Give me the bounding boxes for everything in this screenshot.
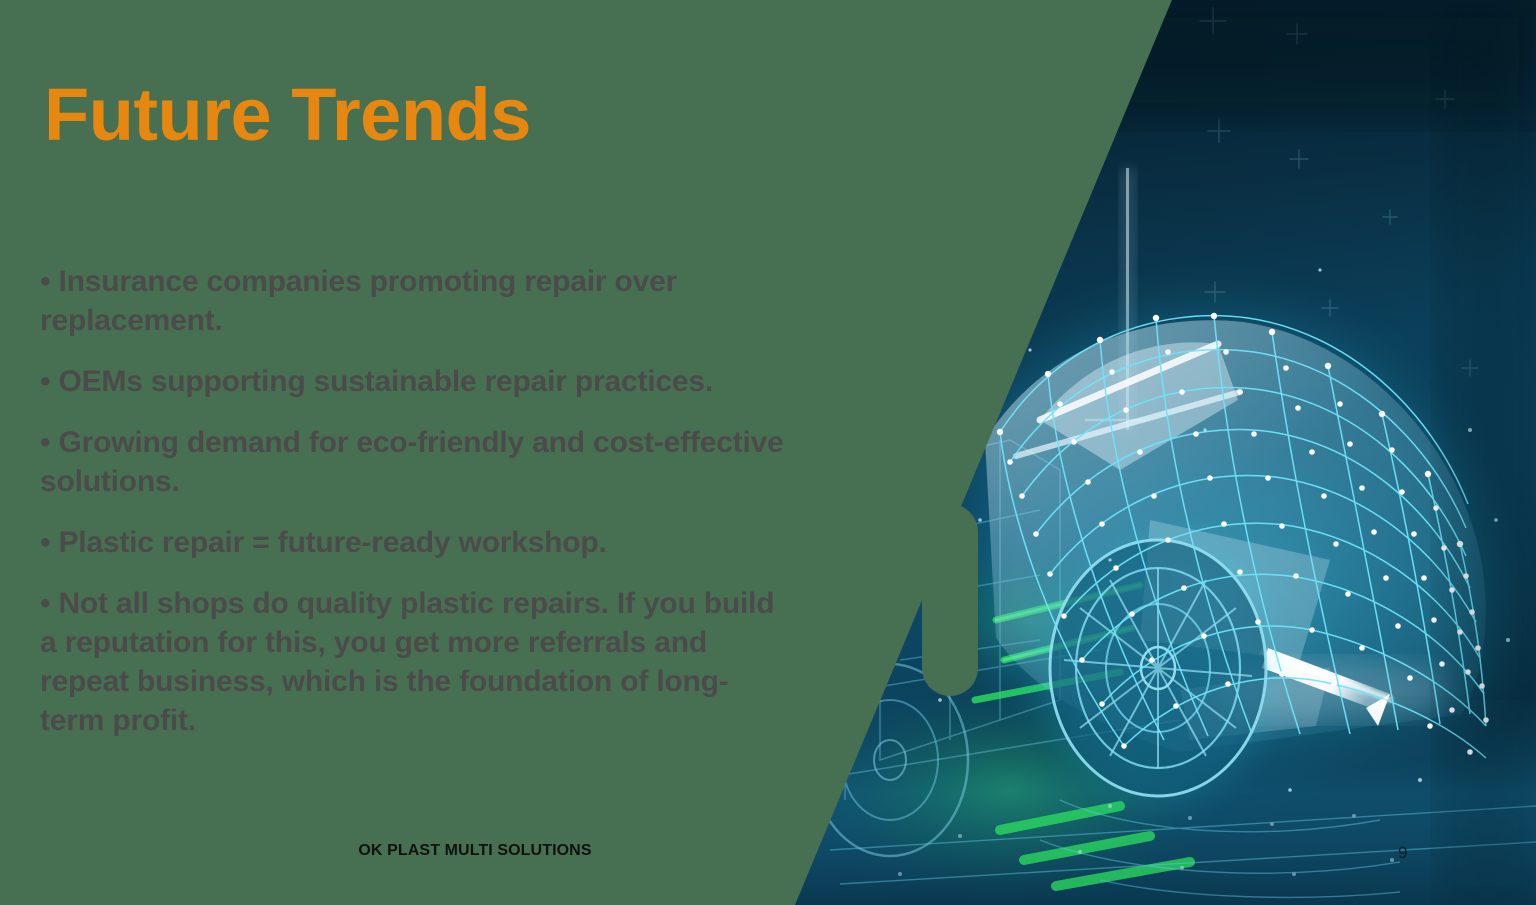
list-item-text: Insurance companies promoting repair ove… <box>40 265 677 337</box>
presentation-slide: Future Trends • Insurance companies prom… <box>0 0 1536 905</box>
slide-footer-company: OK PLAST MULTI SOLUTIONS <box>0 842 950 860</box>
bullet-marker: • <box>40 587 50 620</box>
page-title: Future Trends <box>44 78 531 152</box>
bullet-marker: • <box>40 526 50 559</box>
bullet-marker: • <box>40 265 50 298</box>
list-item-text-tail: . <box>188 704 196 737</box>
bullet-marker: • <box>40 365 50 398</box>
list-item-text: Plastic repair = future-ready workshop. <box>58 526 606 559</box>
list-item-text: Growing demand for eco-friendly and cost… <box>40 426 784 498</box>
list-item: • Plastic repair = future-ready workshop… <box>40 523 788 562</box>
bullet-list: • Insurance companies promoting repair o… <box>40 262 788 740</box>
list-item: • Insurance companies promoting repair o… <box>40 262 788 340</box>
list-item: • Not all shops do quality plastic repai… <box>40 584 788 740</box>
bullet-marker: • <box>40 426 50 459</box>
list-item: • OEMs supporting sustainable repair pra… <box>40 362 788 401</box>
list-item: • Growing demand for eco-friendly and co… <box>40 423 788 501</box>
list-item-text: OEMs supporting sustainable repair pract… <box>58 365 713 398</box>
slide-page-number: 9 <box>1398 843 1407 863</box>
